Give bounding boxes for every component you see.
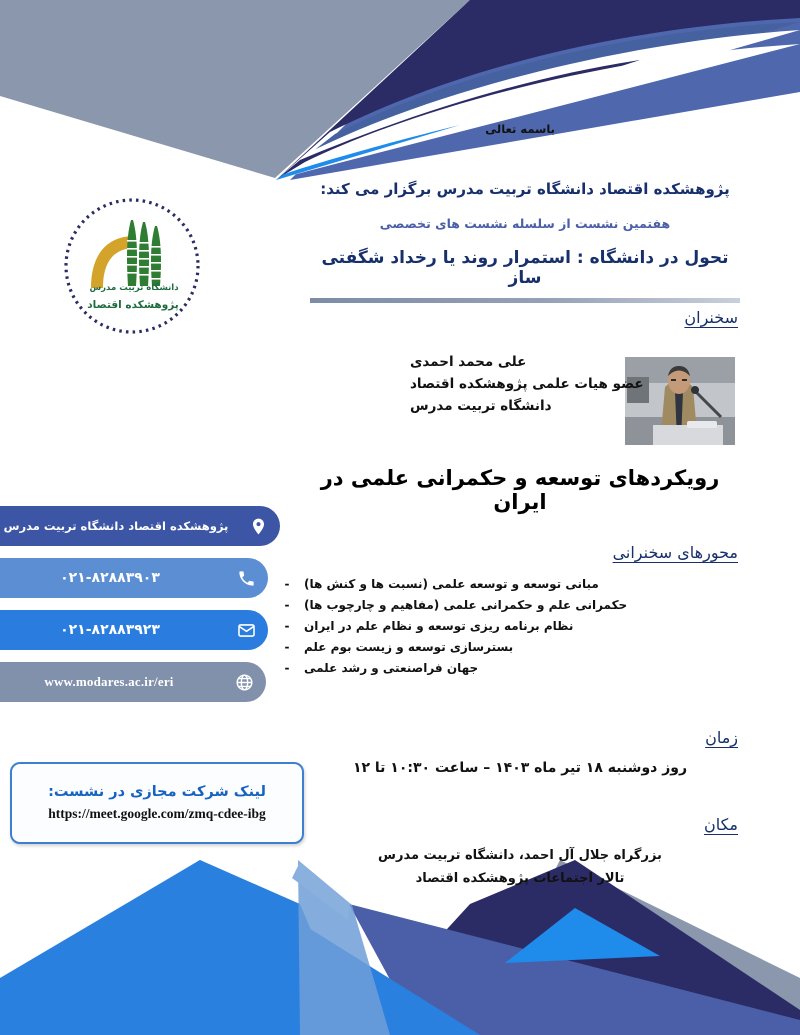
virtual-link-box[interactable]: لینک شرکت مجازی در نشست: https://meet.go… — [10, 762, 304, 844]
speaker-details: علی محمد احمدی عضو هیات علمی پژوهشکده اق… — [410, 352, 690, 418]
topic-bullet: - — [270, 641, 304, 653]
event-datetime: روز دوشنبه ۱۸ تیر ماه ۱۴۰۳ – ساعت ۱۰:۳۰ … — [295, 760, 745, 776]
basmale-text: باسمه تعالی — [485, 122, 555, 136]
topic-text: بسترسازی توسعه و زیست بوم علم — [304, 641, 513, 653]
topic-text: جهان فراصنعتی و رشد علمی — [304, 662, 478, 674]
organizer-line: پژوهشکده اقتصاد دانشگاه تربیت مدرس برگزا… — [310, 180, 740, 198]
topics-section-heading: محورهای سخنرانی — [613, 543, 738, 562]
speaker-name: علی محمد احمدی — [410, 352, 690, 374]
list-item: نظام برنامه ریزی توسعه و نظام علم در ایر… — [270, 620, 740, 632]
topic-text: حکمرانی علم و حکمرانی علمی (مفاهیم و چار… — [304, 599, 627, 611]
contact-phone-bar: ۰۲۱-۸۲۸۸۳۹۰۳ — [0, 558, 268, 598]
event-location: بزرگراه جلال آل احمد، دانشگاه تربیت مدرس… — [295, 845, 745, 891]
logo-institute-text: پژوهشکده اقتصاد — [67, 300, 199, 311]
logo-university-text: دانشگاه تربیت مدرس — [75, 284, 193, 293]
speaker-section-heading: سخنران — [684, 308, 738, 327]
location-pin-icon — [236, 517, 280, 536]
contact-website-text: www.modares.ac.ir/eri — [0, 674, 222, 690]
virtual-link-title: لینک شرکت مجازی در نشست: — [48, 784, 266, 800]
topic-text: نظام برنامه ریزی توسعه و نظام علم در ایر… — [304, 620, 573, 632]
contact-location-text: پژوهشکده اقتصاد دانشگاه تربیت مدرس — [0, 519, 236, 533]
list-item: حکمرانی علم و حکمرانی علمی (مفاهیم و چار… — [270, 599, 740, 611]
list-item: مبانی توسعه و توسعه علمی (نسبت ها و کنش … — [270, 578, 740, 590]
topic-bullet: - — [270, 620, 304, 632]
topics-list: مبانی توسعه و توسعه علمی (نسبت ها و کنش … — [270, 578, 740, 683]
poster-canvas: دانشگاه تربیت مدرس پژوهشکده اقتصاد باسمه… — [0, 0, 800, 1035]
location-line-2: تالار اجتماعات پژوهشکده اقتصاد — [295, 868, 745, 891]
location-line-1: بزرگراه جلال آل احمد، دانشگاه تربیت مدرس — [295, 845, 745, 868]
globe-icon — [222, 673, 266, 692]
topic-bullet: - — [270, 578, 304, 590]
topic-bullet: - — [270, 599, 304, 611]
time-section-heading: زمان — [705, 728, 738, 747]
list-item: بسترسازی توسعه و زیست بوم علم - — [270, 641, 740, 653]
place-section-heading: مکان — [704, 815, 738, 834]
topic-bullet: - — [270, 662, 304, 674]
logo-emblem-icon — [57, 196, 207, 336]
lecture-title: رویکردهای توسعه و حکمرانی علمی در ایران — [295, 466, 745, 514]
phone-icon — [224, 569, 268, 588]
session-title: تحول در دانشگاه : استمرار روند یا رخداد … — [305, 248, 745, 288]
contact-fax-bar: ۰۲۱-۸۲۸۸۳۹۲۳ — [0, 610, 268, 650]
topic-text: مبانی توسعه و توسعه علمی (نسبت ها و کنش … — [304, 578, 599, 590]
speaker-affiliation-1: عضو هیات علمی پژوهشکده اقتصاد — [410, 374, 690, 396]
contact-website-bar[interactable]: www.modares.ac.ir/eri — [0, 662, 266, 702]
contact-location-bar: پژوهشکده اقتصاد دانشگاه تربیت مدرس — [0, 506, 280, 546]
envelope-icon — [224, 621, 268, 640]
list-item: جهان فراصنعتی و رشد علمی - — [270, 662, 740, 674]
virtual-link-url[interactable]: https://meet.google.com/zmq-cdee-ibg — [48, 806, 265, 822]
series-line: هفتمین نشست از سلسله نشست های تخصصی — [310, 216, 740, 231]
top-decoration — [0, 0, 800, 210]
contact-phone-text: ۰۲۱-۸۲۸۸۳۹۰۳ — [0, 570, 224, 586]
contact-fax-text: ۰۲۱-۸۲۸۸۳۹۲۳ — [0, 622, 224, 638]
institute-logo: دانشگاه تربیت مدرس پژوهشکده اقتصاد — [57, 196, 229, 336]
speaker-affiliation-2: دانشگاه تربیت مدرس — [410, 396, 690, 418]
header-divider — [310, 298, 740, 303]
